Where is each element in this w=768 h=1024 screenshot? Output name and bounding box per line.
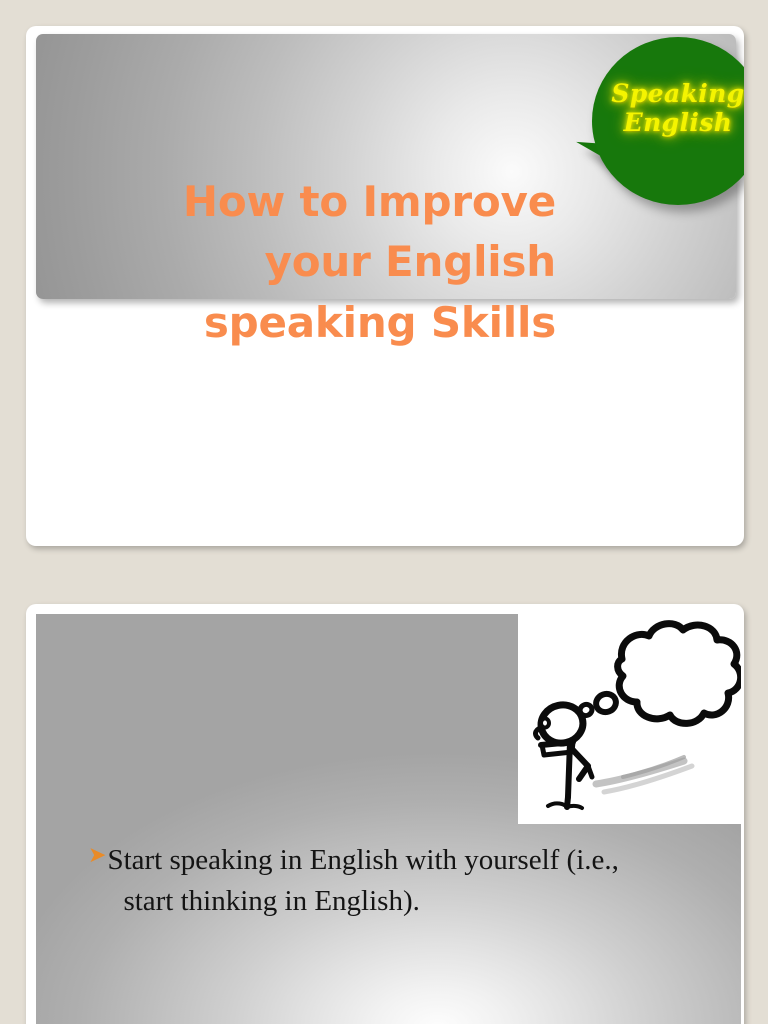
stick-figure-thinking-icon: [518, 614, 741, 824]
speech-bubble-label: Speaking English: [592, 80, 744, 137]
list-item-line-2: start thinking in English).: [107, 881, 738, 922]
list-item-line-1: Start speaking in English with yourself …: [107, 844, 618, 876]
speech-bubble-graphic: Speaking English: [567, 28, 744, 248]
bullet-list: ➤ Start speaking in English with yoursel…: [88, 840, 738, 922]
arrow-bullet-icon: ➤: [88, 842, 106, 870]
slide-1-title-slide[interactable]: How to Improve your English speaking Ski…: [26, 26, 744, 546]
page-title: How to Improve your English speaking Ski…: [46, 172, 556, 353]
list-item-text: Start speaking in English with yourself …: [107, 840, 738, 922]
stick-figure-thinking-image: [518, 614, 741, 824]
slide-2-content-slide[interactable]: ➤ Start speaking in English with yoursel…: [26, 604, 744, 1024]
presentation-page: How to Improve your English speaking Ski…: [0, 0, 768, 1024]
list-item: ➤ Start speaking in English with yoursel…: [88, 840, 738, 922]
